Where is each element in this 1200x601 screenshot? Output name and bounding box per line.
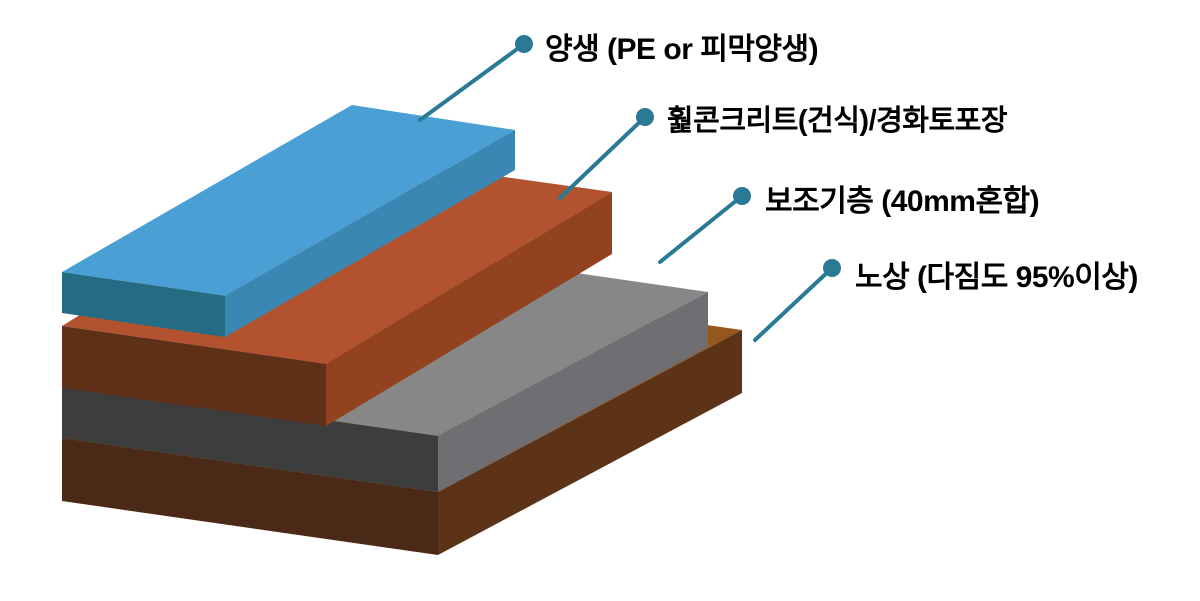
leader-dot-soil-concrete [636, 108, 654, 126]
layer-label-soil-concrete: 훭콘크리트(건식)/경화토포장 [667, 97, 1007, 139]
layer-label-curing: 양생 (PE or 피막양생) [545, 24, 818, 68]
leader-dot-curing [515, 35, 533, 53]
leader-line-curing [420, 44, 524, 120]
leader-dot-sub-base [733, 187, 751, 205]
leader-line-subgrade [755, 268, 832, 340]
layer-label-subgrade: 노상 (다짐도 95%이상) [855, 252, 1138, 296]
layer-label-sub-base: 보조기층 (40mm혼합) [765, 176, 1039, 220]
leader-line-soil-concrete [560, 117, 645, 198]
leader-dot-subgrade [823, 259, 841, 277]
leader-line-sub-base [660, 196, 742, 262]
layer-stack-illustration [0, 0, 1200, 601]
diagram-canvas: 양생 (PE or 피막양생) 훭콘크리트(건식)/경화토포장 보조기층 (40… [0, 0, 1200, 601]
